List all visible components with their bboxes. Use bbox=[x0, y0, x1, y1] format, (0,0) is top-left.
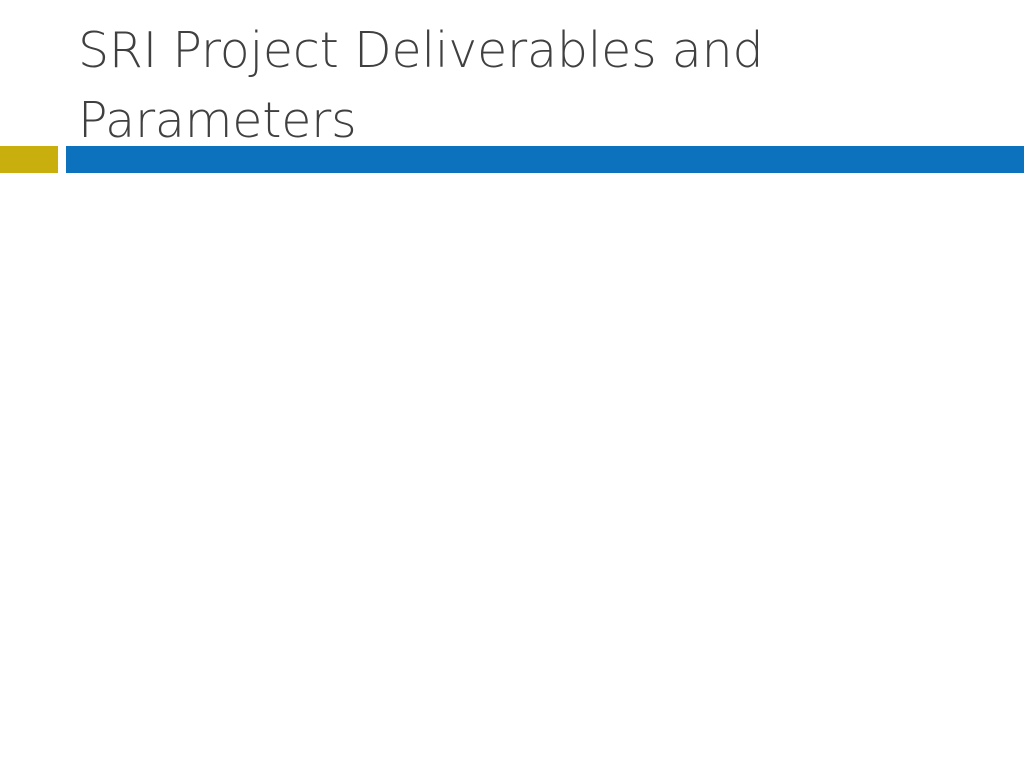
accent-bar-gap bbox=[58, 146, 66, 173]
body-text bbox=[0, 173, 1024, 768]
page-title: SRI Project Deliverables and Parameters bbox=[78, 16, 978, 156]
accent-bar-gold bbox=[0, 146, 58, 173]
slide: SRI Project Deliverables and Parameters bbox=[0, 0, 1024, 768]
content-placeholder[interactable] bbox=[0, 173, 1024, 768]
accent-bar-blue bbox=[66, 146, 1024, 173]
title-placeholder[interactable]: SRI Project Deliverables and Parameters bbox=[78, 16, 978, 156]
title-accent-band bbox=[0, 146, 1024, 173]
